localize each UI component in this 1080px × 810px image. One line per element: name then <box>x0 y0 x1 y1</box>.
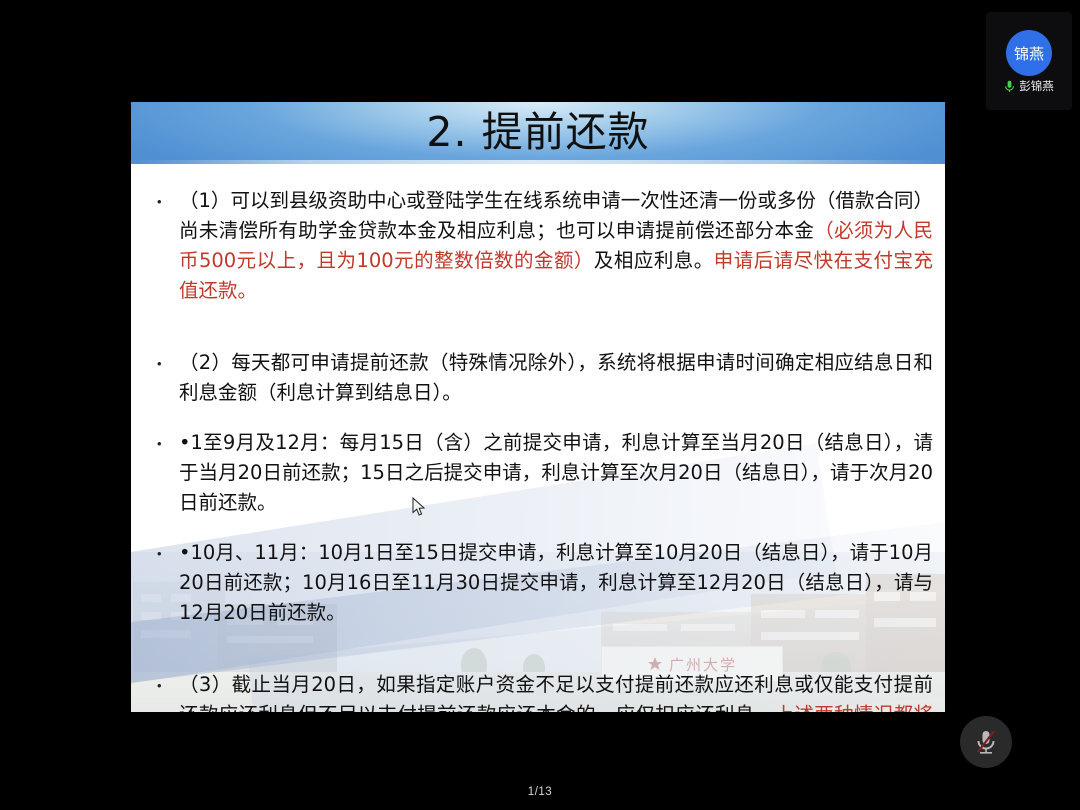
slide-title-band: 2. 提前还款 <box>131 102 945 164</box>
bullet-marker: • <box>157 428 179 450</box>
microphone-on-icon <box>1004 80 1015 93</box>
participant-footer: 彭锦燕 <box>986 78 1072 94</box>
screen-share-stage: 广州大学 2. 提前还款 • （1）可以到县级资助中心或登陆学生在线系统申请一次… <box>0 0 1080 810</box>
slide-body: • （1）可以到县级资助中心或登陆学生在线系统申请一次性还清一份或多份（借款合同… <box>131 164 945 712</box>
bullet-marker: • <box>157 538 179 560</box>
slide-bullet-1: • （1）可以到县级资助中心或登陆学生在线系统申请一次性还清一份或多份（借款合同… <box>157 186 937 306</box>
mute-button[interactable] <box>960 716 1012 768</box>
slide-bullet-4: • •10月、11月：10月1日至15日提交申请，利息计算至10月20日（结息日… <box>157 538 937 628</box>
bullet-text: •10月、11月：10月1日至15日提交申请，利息计算至10月20日（结息日），… <box>179 538 937 628</box>
spacer <box>157 326 937 348</box>
participant-video-tile[interactable]: 锦燕 彭锦燕 <box>986 12 1072 110</box>
page-indicator: 1/13 <box>0 786 1080 798</box>
slide-bullet-3: • •1至9月及12月：每月15日（含）之前提交申请，利息计算至当月20日（结息… <box>157 428 937 518</box>
bullet-marker: • <box>157 670 179 692</box>
slide-bullet-5: • （3）截止当月20日，如果指定账户资金不足以支付提前还款应还利息或仅能支付提… <box>157 670 937 712</box>
slide-title: 2. 提前还款 <box>131 110 945 155</box>
spacer <box>157 648 937 670</box>
bullet-marker: • <box>157 348 179 370</box>
bullet-text: （3）截止当月20日，如果指定账户资金不足以支付提前还款应还利息或仅能支付提前还… <box>179 670 937 712</box>
bullet-text: （2）每天都可申请提前还款（特殊情况除外），系统将根据申请时间确定相应结息日和利… <box>179 348 937 408</box>
avatar: 锦燕 <box>1006 30 1052 76</box>
bullet-segment: 及相应利息。 <box>594 249 714 272</box>
bullet-text: •1至9月及12月：每月15日（含）之前提交申请，利息计算至当月20日（结息日）… <box>179 428 937 518</box>
participant-name: 彭锦燕 <box>1019 78 1054 94</box>
shared-slide[interactable]: 广州大学 2. 提前还款 • （1）可以到县级资助中心或登陆学生在线系统申请一次… <box>131 102 945 712</box>
bullet-marker: • <box>157 186 179 208</box>
slide-bullet-2: • （2）每天都可申请提前还款（特殊情况除外），系统将根据申请时间确定相应结息日… <box>157 348 937 408</box>
microphone-muted-icon <box>973 727 999 757</box>
bullet-text: （1）可以到县级资助中心或登陆学生在线系统申请一次性还清一份或多份（借款合同）尚… <box>179 186 937 306</box>
